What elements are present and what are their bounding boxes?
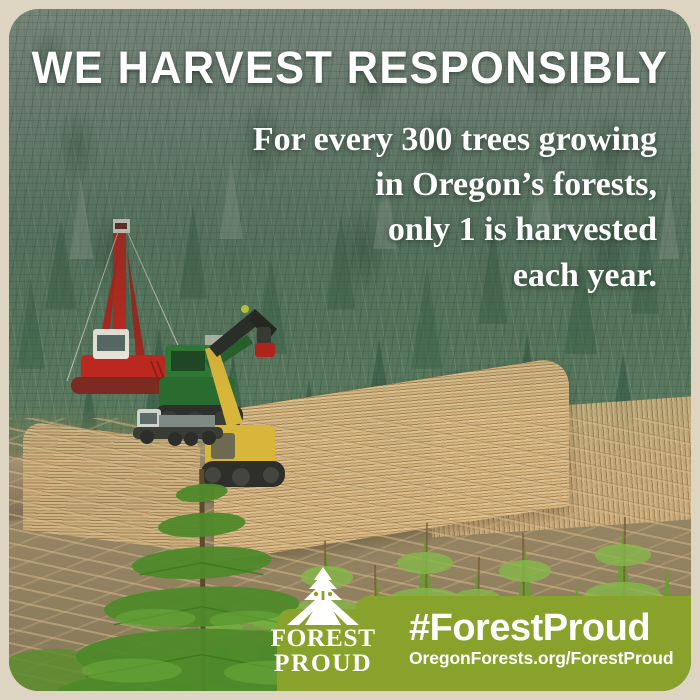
forest-proud-tree-logo-icon: [283, 567, 363, 629]
campaign-tagline: #ForestProud OregonForests.org/ForestPro…: [409, 609, 691, 668]
forest-proud-logo[interactable]: FOREST PROUD: [271, 567, 375, 691]
background-photo: WE HARVEST RESPONSIBLY For every 300 tre…: [9, 9, 691, 691]
poster-root: WE HARVEST RESPONSIBLY For every 300 tre…: [0, 0, 700, 700]
wordmark-line-2: PROUD: [270, 652, 376, 677]
body-line-4: each year.: [187, 253, 657, 298]
body-copy: For every 300 trees growing in Oregon’s …: [187, 117, 657, 298]
page-title: WE HARVEST RESPONSIBLY: [23, 45, 678, 90]
hashtag-label: #ForestProud: [409, 609, 691, 647]
body-line-3: only 1 is harvested: [187, 207, 657, 252]
campaign-url[interactable]: OregonForests.org/ForestProud: [409, 650, 691, 668]
body-line-2: in Oregon’s forests,: [187, 162, 657, 207]
forest-proud-wordmark: FOREST PROUD: [271, 627, 375, 677]
wordmark-line-1: FOREST: [270, 627, 376, 652]
body-line-1: For every 300 trees growing: [187, 117, 657, 162]
